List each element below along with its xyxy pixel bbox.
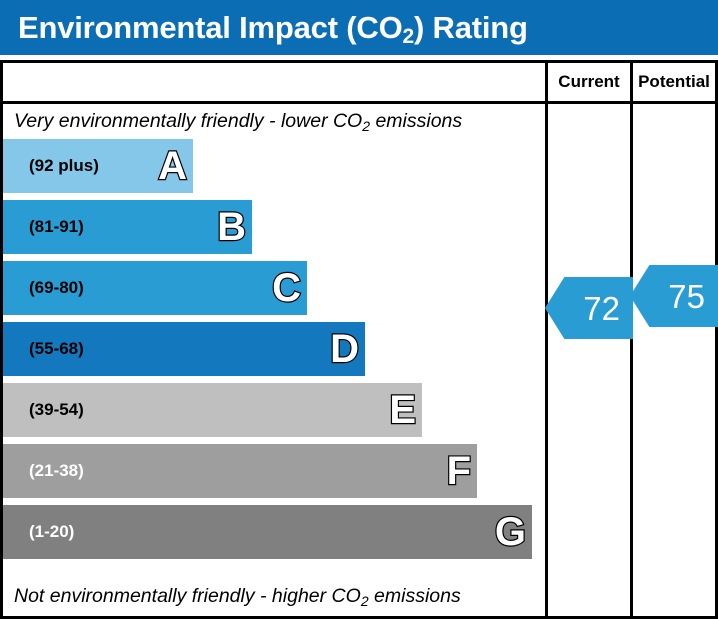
rating-band-b: (81-91)B bbox=[3, 200, 252, 254]
rating-band-d: (55-68)D bbox=[3, 322, 365, 376]
chart-title-bar: Environmental Impact (CO2) Rating bbox=[0, 0, 718, 55]
rating-band-a: (92 plus)A bbox=[3, 139, 193, 193]
potential-column-divider bbox=[630, 60, 633, 619]
page-title-suffix: ) Rating bbox=[414, 10, 528, 45]
band-letter-label: C bbox=[272, 268, 301, 308]
page-title: Environmental Impact (CO2) Rating bbox=[18, 10, 528, 46]
caption-top: Very environmentally friendly - lower CO… bbox=[14, 110, 462, 133]
epc-environmental-impact-chart: Environmental Impact (CO2) Rating Curren… bbox=[0, 0, 718, 619]
band-range-label: (92 plus) bbox=[29, 156, 99, 176]
caption-bottom-prefix: Not environmentally friendly - higher CO bbox=[14, 585, 361, 607]
band-letter-label: B bbox=[217, 207, 246, 247]
band-letter-label: A bbox=[158, 146, 187, 186]
band-letter-label: E bbox=[389, 390, 416, 430]
caption-top-suffix: emissions bbox=[370, 110, 462, 132]
caption-top-subscript: 2 bbox=[362, 118, 370, 134]
band-letter-label: F bbox=[447, 451, 471, 491]
rating-band-e: (39-54)E bbox=[3, 383, 422, 437]
page-title-prefix: Environmental Impact (CO bbox=[18, 10, 403, 45]
band-range-label: (55-68) bbox=[29, 339, 84, 359]
page-title-subscript: 2 bbox=[403, 25, 414, 48]
potential-rating-arrow-value: 75 bbox=[668, 280, 718, 313]
band-range-label: (69-80) bbox=[29, 278, 84, 298]
caption-top-prefix: Very environmentally friendly - lower CO bbox=[14, 110, 362, 132]
band-range-label: (21-38) bbox=[29, 461, 84, 481]
band-letter-label: D bbox=[330, 329, 359, 369]
band-letter-label: G bbox=[495, 512, 526, 552]
band-range-label: (39-54) bbox=[29, 400, 84, 420]
caption-bottom: Not environmentally friendly - higher CO… bbox=[14, 585, 461, 608]
caption-bottom-subscript: 2 bbox=[361, 593, 369, 609]
rating-band-g: (1-20)G bbox=[3, 505, 532, 559]
band-range-label: (1-20) bbox=[29, 522, 74, 542]
rating-band-f: (21-38)F bbox=[3, 444, 477, 498]
current-column-divider bbox=[545, 60, 548, 619]
column-header-potential: Potential bbox=[633, 63, 715, 101]
header-row-divider bbox=[0, 101, 718, 104]
column-header-current: Current bbox=[548, 63, 630, 101]
rating-band-c: (69-80)C bbox=[3, 261, 307, 315]
caption-bottom-suffix: emissions bbox=[369, 585, 461, 607]
band-range-label: (81-91) bbox=[29, 217, 84, 237]
current-rating-arrow-value: 72 bbox=[583, 292, 633, 325]
